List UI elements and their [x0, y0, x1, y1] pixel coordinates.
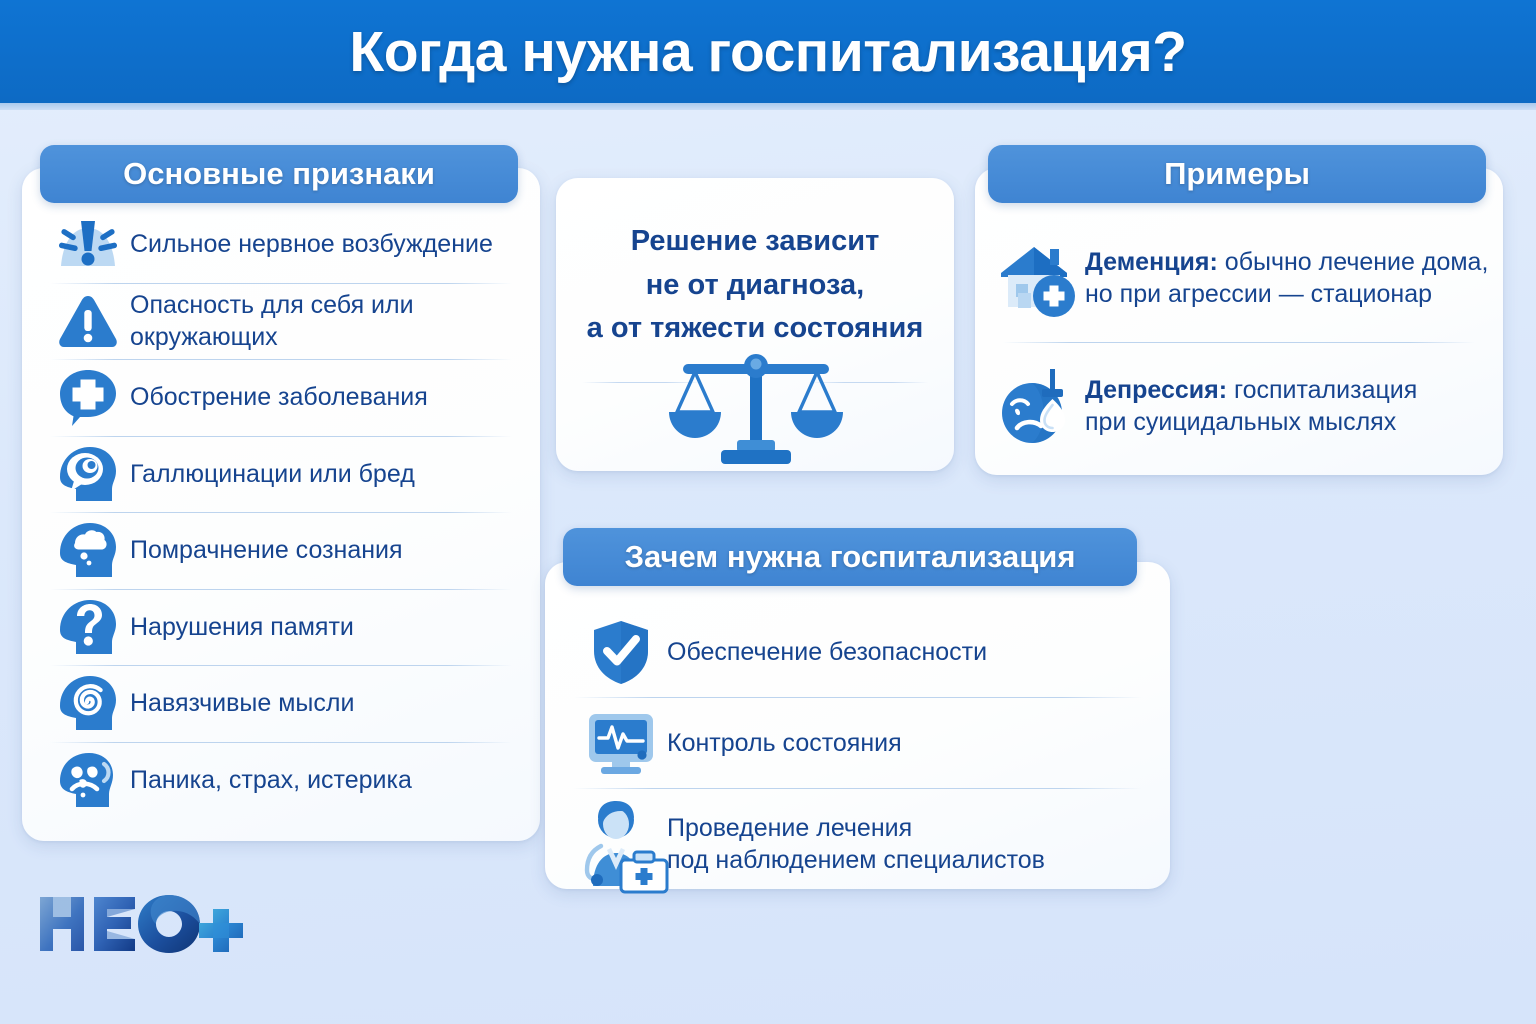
list-item-label: Паника, страх, истерика — [130, 764, 412, 796]
head-question-icon — [46, 596, 130, 658]
header-underline — [0, 103, 1536, 110]
list-item[interactable]: Нарушения памяти — [22, 589, 540, 666]
depression-noose-icon — [989, 358, 1085, 454]
statement-card: Решение зависит не от диагноза, а от тяж… — [556, 178, 954, 471]
shield-check-icon — [575, 615, 667, 689]
example-line2: но при агрессии — стационар — [1085, 278, 1488, 310]
statement-line-2: не от диагноза, — [582, 264, 928, 308]
list-item-label: Контроль состояния — [667, 727, 902, 759]
warning-triangle-icon — [46, 290, 130, 352]
list-item[interactable]: Контроль состояния — [545, 697, 1170, 788]
example-rest: госпитализация — [1227, 376, 1417, 404]
main-signs-ribbon-label: Основные признаки — [123, 156, 435, 192]
list-item[interactable]: Деменция: обычно лечение дома, но при аг… — [975, 214, 1503, 342]
list-item-label: Деменция: обычно лечение дома, но при аг… — [1085, 246, 1500, 310]
list-item[interactable]: Сильное нервное возбуждение — [22, 206, 540, 283]
statement-text: Решение зависит не от диагноза, а от тяж… — [582, 220, 928, 351]
balance-scales-icon — [556, 342, 954, 467]
why-hospitalization-card: Обеспечение безопасности Контроль состоя… — [545, 562, 1170, 889]
doctor-case-icon — [575, 807, 667, 881]
why-line2: под наблюдением специалистов — [667, 844, 1045, 876]
list-item-label: Сильное нервное возбуждение — [130, 228, 493, 260]
house-medical-icon — [989, 230, 1085, 326]
list-item-label: Обострение заболевания — [130, 381, 428, 413]
example-term: Депрессия: — [1085, 376, 1227, 404]
main-signs-ribbon: Основные признаки — [40, 145, 518, 203]
list-item[interactable]: Галлюцинации или бред — [22, 436, 540, 513]
page-header: Когда нужна госпитализация? — [0, 0, 1536, 103]
example-line2: при суицидальных мыслях — [1085, 406, 1417, 438]
head-panic-face-icon — [46, 749, 130, 811]
why-hospitalization-list: Обеспечение безопасности Контроль состоя… — [545, 606, 1170, 900]
list-item[interactable]: Навязчивые мысли — [22, 665, 540, 742]
example-rest: обычно лечение дома, — [1218, 248, 1489, 276]
why-hospitalization-ribbon-label: Зачем нужна госпитализация — [625, 539, 1076, 575]
list-item[interactable]: Депрессия: госпитализация при суицидальн… — [975, 342, 1503, 470]
why-line1: Проведение лечения — [667, 812, 1045, 844]
list-item[interactable]: Обеспечение безопасности — [545, 606, 1170, 697]
list-item[interactable]: Помрачнение сознания — [22, 512, 540, 589]
list-item-label: Проведение лечения под наблюдением специ… — [667, 812, 1045, 876]
example-term: Деменция: — [1085, 248, 1218, 276]
list-item-label: Депрессия: госпитализация при суицидальн… — [1085, 374, 1429, 438]
why-hospitalization-ribbon: Зачем нужна госпитализация — [563, 528, 1137, 586]
list-item[interactable]: Обострение заболевания — [22, 359, 540, 436]
list-item-label: Обеспечение безопасности — [667, 636, 987, 668]
list-item[interactable]: Паника, страх, истерика — [22, 742, 540, 819]
list-item-label: Нарушения памяти — [130, 611, 354, 643]
page-title: Когда нужна госпитализация? — [349, 19, 1186, 85]
main-signs-card: Сильное нервное возбуждение Опасность дл… — [22, 168, 540, 841]
main-signs-list: Сильное нервное возбуждение Опасность дл… — [22, 206, 540, 818]
examples-ribbon-label: Примеры — [1164, 156, 1310, 192]
list-item-label: Навязчивые мысли — [130, 687, 354, 719]
exclamation-burst-icon — [46, 213, 130, 275]
brand-logo[interactable] — [38, 893, 243, 955]
list-item-label: Помрачнение сознания — [130, 534, 403, 566]
medical-cross-bubble-icon — [46, 366, 130, 428]
examples-list: Деменция: обычно лечение дома, но при аг… — [975, 214, 1503, 470]
statement-line-1: Решение зависит — [582, 220, 928, 264]
list-item[interactable]: Опасность для себя или окружающих — [22, 283, 540, 360]
examples-card: Деменция: обычно лечение дома, но при аг… — [975, 168, 1503, 475]
list-item-label: Опасность для себя или окружающих — [130, 289, 540, 353]
list-item[interactable]: Проведение лечения под наблюдением специ… — [545, 788, 1170, 900]
list-item-label: Галлюцинации или бред — [130, 458, 415, 490]
head-spiral-icon — [46, 672, 130, 734]
examples-ribbon: Примеры — [988, 145, 1486, 203]
brand-logo-mark — [38, 893, 243, 955]
head-cloud-icon — [46, 519, 130, 581]
head-eye-icon — [46, 443, 130, 505]
heart-monitor-icon — [575, 706, 667, 780]
